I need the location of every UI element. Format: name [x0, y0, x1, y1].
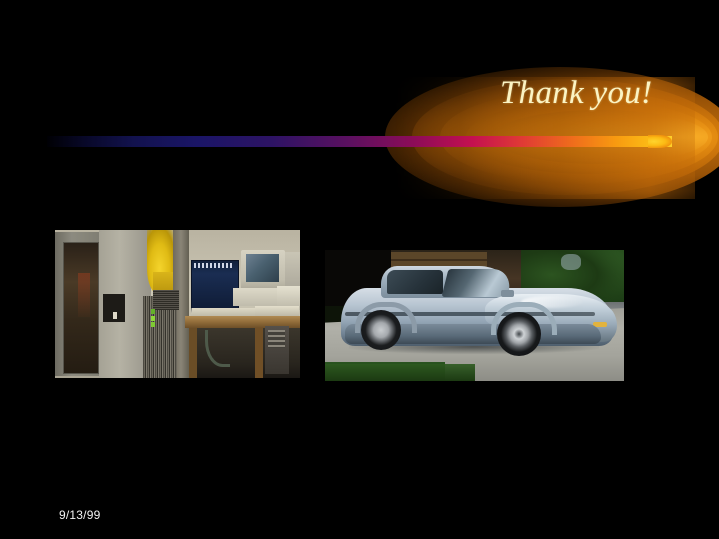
corvette-photo: [325, 250, 624, 381]
cabinet-latch: [113, 312, 117, 319]
car-front-wheel: [497, 312, 541, 356]
server-room-photo: [55, 230, 300, 378]
desk-leg-left: [189, 328, 197, 378]
slide-date: 9/13/99: [59, 508, 100, 522]
desk-leg-right: [255, 328, 263, 378]
presentation-slide: Thank you!: [0, 0, 719, 539]
patch-panel: [153, 290, 179, 310]
wall-poster: [191, 260, 239, 314]
status-led-indicator: [151, 316, 155, 321]
server-tower-drive-bays: [268, 330, 285, 348]
foreground-grass: [325, 364, 475, 381]
keyboard-2: [255, 306, 299, 316]
crt-monitor-screen: [246, 254, 279, 282]
page-title: Thank you!: [500, 74, 700, 112]
poster-heading-text: [194, 263, 234, 268]
car-side-mirror: [501, 290, 514, 297]
rack-door-reflection: [78, 273, 90, 317]
comet-glow-ring-5: [492, 110, 708, 164]
car-rear-wheel: [361, 310, 401, 350]
sky-gap-through-trees: [561, 254, 581, 270]
car-side-window: [387, 270, 443, 294]
server-rack-glass-door: [63, 242, 99, 374]
